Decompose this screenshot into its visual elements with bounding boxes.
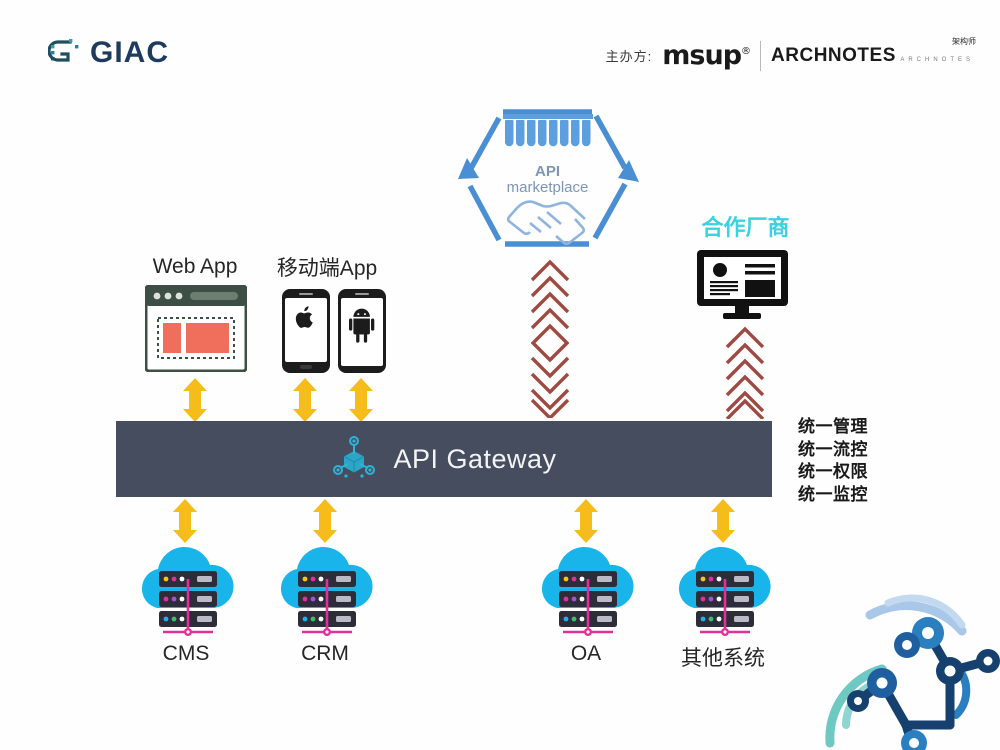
unified-feature-item: 统一监控 bbox=[798, 484, 868, 507]
handshake-icon bbox=[508, 202, 585, 244]
archnotes-logo-text: ARCHNOTES bbox=[771, 45, 896, 66]
yellow-double-arrow-android bbox=[348, 378, 374, 427]
desktop-monitor-icon bbox=[695, 248, 790, 325]
unified-features-list: 统一管理 统一流控 统一权限 统一监控 bbox=[798, 416, 868, 506]
yellow-double-arrow-webapp bbox=[182, 378, 208, 427]
cloud-server-icon-other bbox=[670, 536, 776, 641]
mobile-app-label: 移动端App bbox=[262, 252, 392, 282]
unified-feature-item: 统一权限 bbox=[798, 461, 868, 484]
yellow-double-arrow-ios bbox=[292, 378, 318, 427]
cloud-server-icon-oa bbox=[533, 536, 639, 641]
market-awning-icon bbox=[503, 114, 593, 146]
system-label-cms: CMS bbox=[126, 642, 246, 666]
browser-window-icon bbox=[145, 285, 247, 377]
api-gateway-title: API Gateway bbox=[393, 444, 556, 475]
sponsor-divider bbox=[760, 41, 761, 71]
marketplace-title: API marketplace bbox=[455, 164, 640, 196]
smartphone-ios-icon bbox=[281, 288, 331, 379]
system-label-other: 其他系统 bbox=[663, 642, 783, 672]
giac-mark-icon bbox=[48, 36, 82, 70]
network-nodes-decor-icon bbox=[810, 575, 1000, 750]
chevron-column-marketplace bbox=[523, 258, 577, 423]
archnotes-logo: 架构师 ARCHNOTES ARCHNOTES bbox=[771, 45, 974, 67]
giac-logo-text: GIAC bbox=[90, 36, 169, 70]
marketplace-title-line1: API bbox=[455, 164, 640, 180]
giac-logo: GIAC bbox=[48, 36, 169, 70]
host-label: 主办方: bbox=[606, 46, 653, 65]
slide-canvas: GIAC 主办方: msup® 架构师 ARCHNOTES ARCHNOTES bbox=[0, 0, 1000, 750]
marketplace-title-line2: marketplace bbox=[455, 180, 640, 196]
cloud-server-icon-cms bbox=[133, 536, 239, 641]
msup-logo-text: msup bbox=[662, 40, 741, 71]
webapp-label: Web App bbox=[130, 255, 260, 279]
unified-feature-item: 统一流控 bbox=[798, 439, 868, 462]
sponsor-bar: 主办方: msup® 架构师 ARCHNOTES ARCHNOTES bbox=[606, 40, 974, 71]
archnotes-cn-text: 架构师 bbox=[952, 36, 976, 47]
system-label-crm: CRM bbox=[265, 642, 385, 666]
partner-vendor-label: 合作厂商 bbox=[678, 210, 813, 242]
api-gateway-bar: API Gateway bbox=[116, 421, 772, 497]
api-marketplace-node: API marketplace bbox=[455, 96, 640, 261]
smartphone-android-icon bbox=[337, 288, 387, 379]
network-cube-icon bbox=[331, 434, 377, 485]
chevron-column-partner bbox=[718, 325, 772, 424]
archnotes-subtext: ARCHNOTES bbox=[900, 57, 974, 63]
msup-logo: msup® bbox=[662, 40, 750, 71]
cloud-server-icon-crm bbox=[272, 536, 378, 641]
unified-feature-item: 统一管理 bbox=[798, 416, 868, 439]
system-label-oa: OA bbox=[526, 642, 646, 666]
